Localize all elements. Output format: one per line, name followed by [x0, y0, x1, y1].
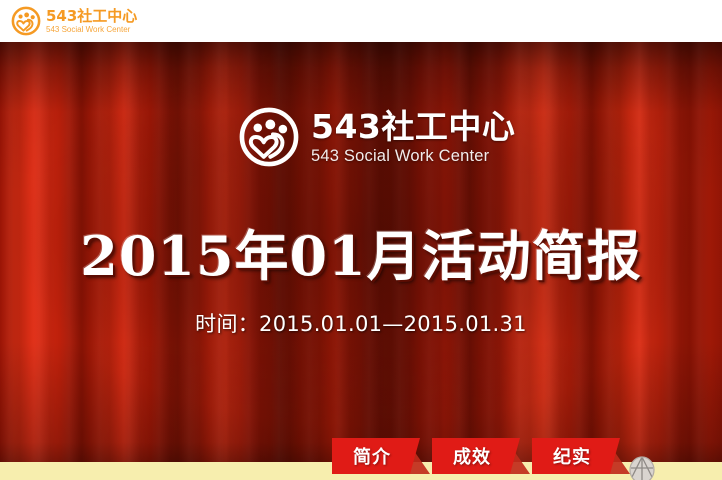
header-logo-name-cn: 543社工中心: [46, 9, 137, 24]
slide-stage: 543社工中心 543 Social Work Center 543社工中心 5…: [0, 0, 722, 480]
slide-title: 2015年01月活动简报: [0, 212, 722, 291]
tab-jianjie[interactable]: 简介: [332, 438, 420, 474]
header-logo[interactable]: 543社工中心 543 Social Work Center: [10, 2, 137, 40]
tab-label: 成效: [432, 438, 512, 474]
slide-logo-text: 543社工中心 543 Social Work Center: [311, 110, 515, 165]
section-tabs: 简介 成效 纪实: [0, 438, 722, 480]
543-emblem-icon: [10, 5, 42, 37]
slide-logo-name-cn: 543社工中心: [311, 110, 515, 143]
tab-jishi[interactable]: 纪实: [532, 438, 620, 474]
header-bar: 543社工中心 543 Social Work Center: [0, 0, 722, 42]
543-emblem-icon: [236, 104, 302, 170]
tab-label: 纪实: [532, 438, 612, 474]
slide-logo-name-en: 543 Social Work Center: [311, 148, 515, 165]
slide-date-range: 时间：2015.01.01—2015.01.31: [0, 308, 722, 338]
header-logo-text: 543社工中心 543 Social Work Center: [46, 9, 137, 34]
tab-chengxiao[interactable]: 成效: [432, 438, 520, 474]
header-logo-name-en: 543 Social Work Center: [46, 26, 137, 34]
tab-label: 简介: [332, 438, 412, 474]
slide-logo: 543社工中心 543 Social Work Center: [236, 104, 515, 170]
